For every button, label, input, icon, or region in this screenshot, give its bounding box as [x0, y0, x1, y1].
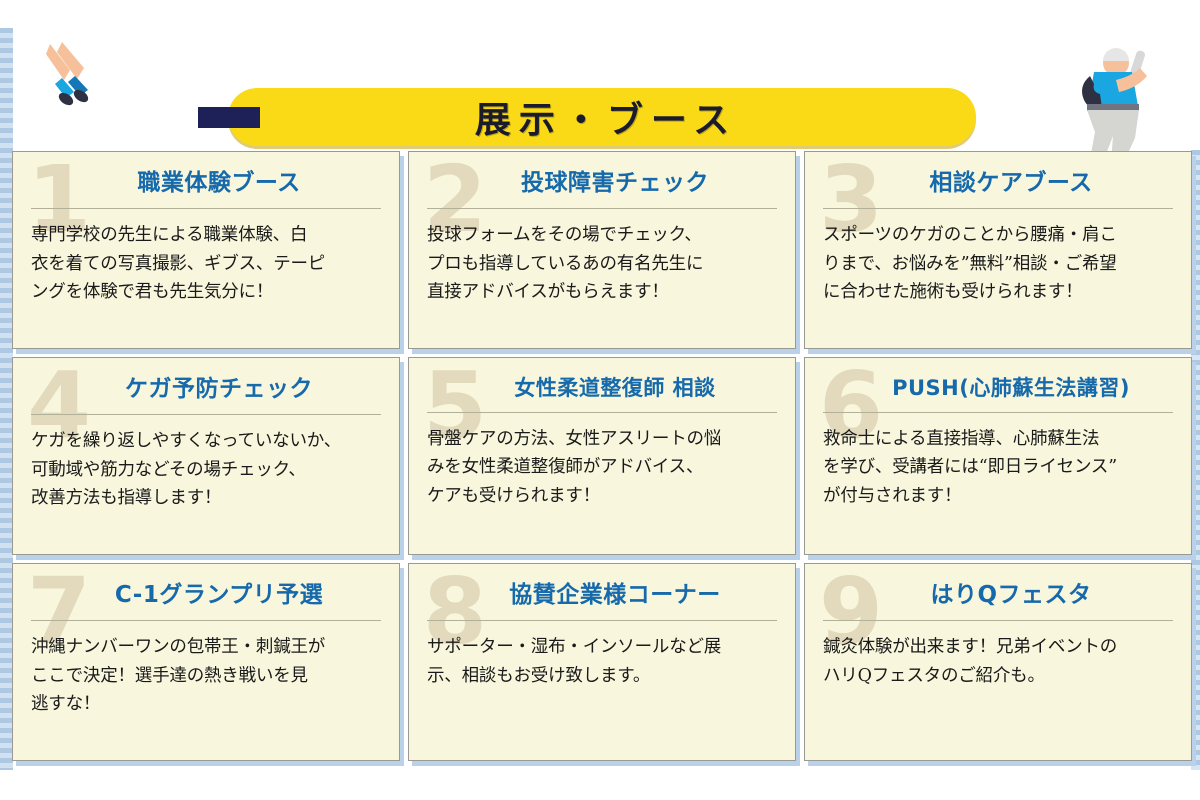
- card-body-line: 骨盤ケアの方法、女性アスリートの悩: [427, 425, 777, 453]
- booth-card[interactable]: 8 協賛企業様コーナー サポーター・湿布・インソールなど展 示、相談もお受け致し…: [408, 563, 796, 761]
- card-body-line: ケガを繰り返しやすくなっていないか、: [31, 427, 381, 455]
- card-title: ケガ予防チェック: [31, 370, 381, 402]
- card-title: はりQフェスタ: [823, 576, 1173, 608]
- booth-card[interactable]: 9 はりQフェスタ 鍼灸体験が出来ます！兄弟イベントの ハリQフェスタのご紹介も…: [804, 563, 1192, 761]
- booth-card[interactable]: 6 PUSH(心肺蘇生法講習) 救命士による直接指導、心肺蘇生法 を学び、受講者…: [804, 357, 1192, 555]
- card-body-line: プロも指導しているあの有名先生に: [427, 250, 777, 278]
- card-title: 協賛企業様コーナー: [427, 576, 777, 608]
- card-title: 相談ケアブース: [823, 164, 1173, 196]
- card-divider: [427, 208, 777, 209]
- card-body-line: が付与されます！: [823, 482, 1173, 510]
- card-body-line: スポーツのケガのことから腰痛・肩こ: [823, 221, 1173, 249]
- booth-card-grid: 1 職業体験ブース 専門学校の先生による職業体験、白 衣を着ての写真撮影、ギブス…: [12, 151, 1192, 761]
- card-divider: [31, 414, 381, 415]
- card-body-line: みを女性柔道整復師がアドバイス、: [427, 453, 777, 481]
- card-body: 専門学校の先生による職業体験、白 衣を着ての写真撮影、ギブス、テーピ ングを体験…: [31, 221, 381, 306]
- card-body: 沖縄ナンバーワンの包帯王・刺鍼王が ここで決定！選手達の熱き戦いを見 逃すな！: [31, 633, 381, 718]
- card-body: スポーツのケガのことから腰痛・肩こ りまで、お悩みを”無料”相談・ご希望 に合わ…: [823, 221, 1173, 306]
- title-tab-marker: [198, 107, 260, 128]
- card-body-line: ハリQフェスタのご紹介も。: [823, 662, 1173, 690]
- card-body-line: 沖縄ナンバーワンの包帯王・刺鍼王が: [31, 633, 381, 661]
- card-body-line: 可動域や筋力などその場チェック、: [31, 456, 381, 484]
- card-title: 投球障害チェック: [427, 164, 777, 196]
- card-body: サポーター・湿布・インソールなど展 示、相談もお受け致します。: [427, 633, 777, 690]
- card-body-line: りまで、お悩みを”無料”相談・ご希望: [823, 250, 1173, 278]
- card-body-line: 鍼灸体験が出来ます！兄弟イベントの: [823, 633, 1173, 661]
- card-body: 投球フォームをその場でチェック、 プロも指導しているあの有名先生に 直接アドバイ…: [427, 221, 777, 306]
- card-body-line: 投球フォームをその場でチェック、: [427, 221, 777, 249]
- card-divider: [823, 412, 1173, 413]
- title-banner: 展示・ブース: [0, 88, 1200, 148]
- poster-root: 展示・ブース 1 職業体験ブース 専門学校の先生による職業体験、白 衣を着ての写…: [0, 0, 1200, 800]
- right-edge-stripe: [1191, 150, 1200, 770]
- card-divider: [823, 620, 1173, 621]
- booth-card[interactable]: 5 女性柔道整復師 相談 骨盤ケアの方法、女性アスリートの悩 みを女性柔道整復師…: [408, 357, 796, 555]
- card-body-line: 逃すな！: [31, 690, 381, 718]
- card-divider: [427, 412, 777, 413]
- card-body-line: に合わせた施術も受けられます！: [823, 278, 1173, 306]
- card-body-line: ングを体験で君も先生気分に！: [31, 278, 381, 306]
- card-divider: [31, 208, 381, 209]
- card-body-line: 改善方法も指導します！: [31, 484, 381, 512]
- card-body-line: 救命士による直接指導、心肺蘇生法: [823, 425, 1173, 453]
- card-divider: [427, 620, 777, 621]
- booth-card[interactable]: 3 相談ケアブース スポーツのケガのことから腰痛・肩こ りまで、お悩みを”無料”…: [804, 151, 1192, 349]
- card-body: 骨盤ケアの方法、女性アスリートの悩 みを女性柔道整復師がアドバイス、 ケアも受け…: [427, 425, 777, 510]
- card-body: ケガを繰り返しやすくなっていないか、 可動域や筋力などその場チェック、 改善方法…: [31, 427, 381, 512]
- card-body-line: 直接アドバイスがもらえます！: [427, 278, 777, 306]
- card-body-line: を学び、受講者には“即日ライセンス”: [823, 453, 1173, 481]
- booth-card[interactable]: 7 C-1グランプリ予選 沖縄ナンバーワンの包帯王・刺鍼王が ここで決定！選手達…: [12, 563, 400, 761]
- card-body-line: ケアも受けられます！: [427, 482, 777, 510]
- card-body-line: ここで決定！選手達の熱き戦いを見: [31, 662, 381, 690]
- booth-card[interactable]: 4 ケガ予防チェック ケガを繰り返しやすくなっていないか、 可動域や筋力などその…: [12, 357, 400, 555]
- card-title: 職業体験ブース: [31, 164, 381, 196]
- card-body-line: 示、相談もお受け致します。: [427, 662, 777, 690]
- card-title: 女性柔道整復師 相談: [427, 370, 777, 400]
- card-body-line: サポーター・湿布・インソールなど展: [427, 633, 777, 661]
- card-divider: [823, 208, 1173, 209]
- card-body: 救命士による直接指導、心肺蘇生法 を学び、受講者には“即日ライセンス” が付与さ…: [823, 425, 1173, 510]
- booth-card[interactable]: 2 投球障害チェック 投球フォームをその場でチェック、 プロも指導しているあの有…: [408, 151, 796, 349]
- card-title: PUSH(心肺蘇生法講習): [823, 370, 1173, 400]
- card-body-line: 専門学校の先生による職業体験、白: [31, 221, 381, 249]
- booth-card[interactable]: 1 職業体験ブース 専門学校の先生による職業体験、白 衣を着ての写真撮影、ギブス…: [12, 151, 400, 349]
- card-title: C-1グランプリ予選: [31, 576, 381, 608]
- card-divider: [31, 620, 381, 621]
- card-body-line: 衣を着ての写真撮影、ギブス、テーピ: [31, 250, 381, 278]
- card-body: 鍼灸体験が出来ます！兄弟イベントの ハリQフェスタのご紹介も。: [823, 633, 1173, 690]
- page-title: 展示・ブース: [467, 91, 737, 143]
- title-pill: 展示・ブース: [228, 88, 976, 146]
